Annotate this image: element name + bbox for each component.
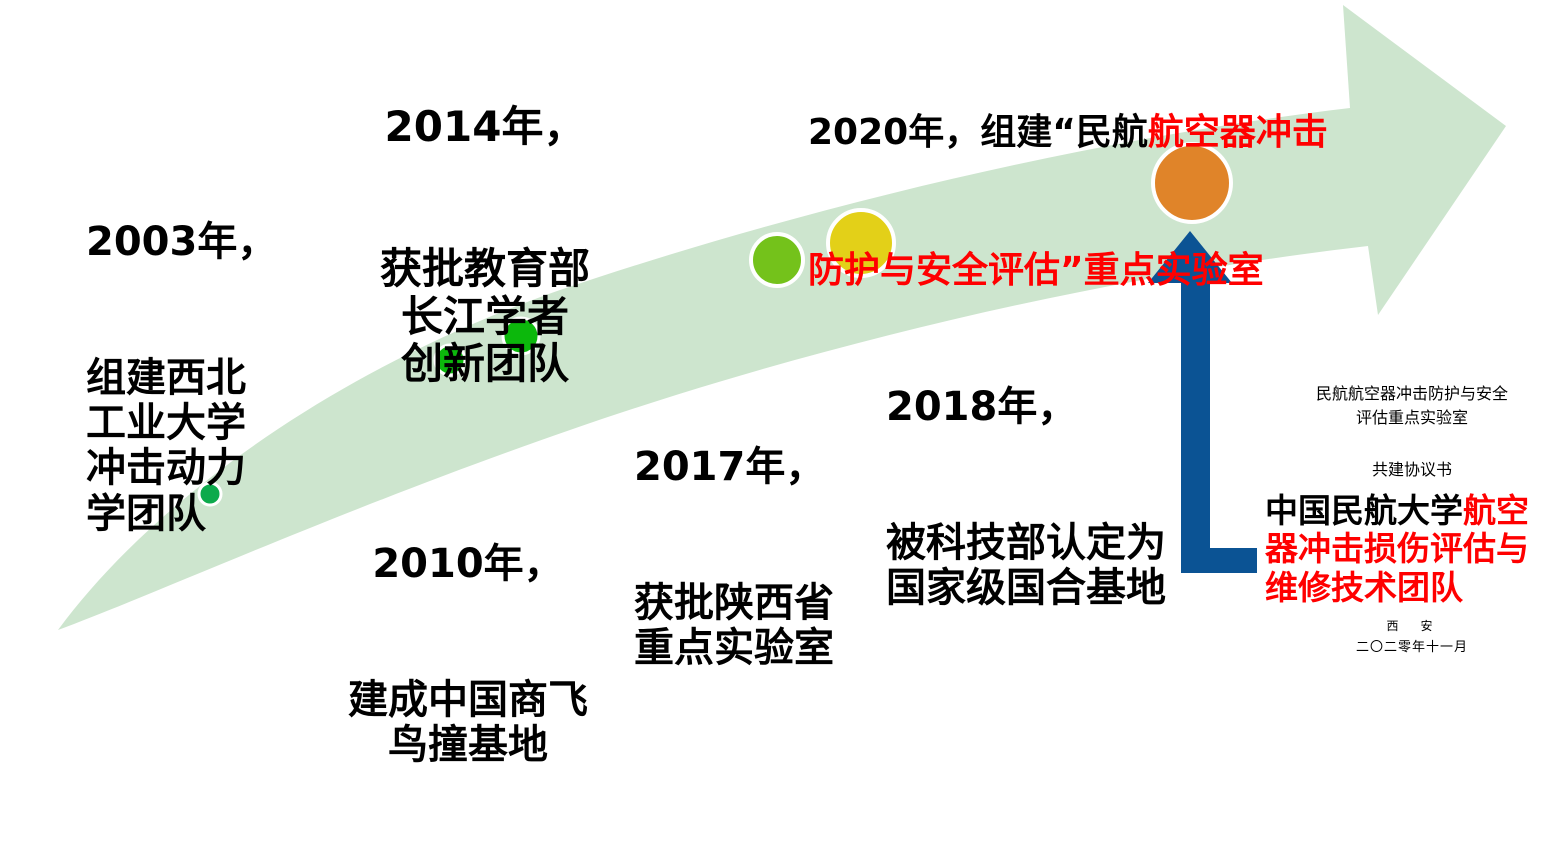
milestone-2018-year: 2018年， [886, 385, 1166, 430]
milestone-2017-year: 2017年， [634, 445, 834, 490]
milestone-2017-body: 获批陕西省 重点实验室 [634, 581, 834, 671]
milestone-2003-year: 2003年， [86, 220, 277, 265]
milestone-2020-line2: 防护与安全评估”重点实验室 [808, 248, 1328, 294]
milestone-2010: 2010年， 建成中国商飞 鸟撞基地 [348, 452, 588, 859]
milestone-2014-year: 2014年， [380, 103, 590, 150]
milestone-2014-body: 获批教育部 长江学者 创新团队 [380, 245, 590, 387]
milestone-2017: 2017年， 获批陕西省 重点实验室 [634, 355, 834, 762]
slide-canvas: 2003年， 组建西北 工业大学 冲击动力 学团队 2014年， 获批教育部 长… [0, 0, 1563, 662]
agreement-place: 西 安 [1272, 617, 1552, 634]
agreement-date: 二〇二零年十一月 [1272, 636, 1552, 655]
milestone-2010-body: 建成中国商飞 鸟撞基地 [348, 678, 588, 768]
milestone-2010-year: 2010年， [348, 542, 588, 587]
milestone-2020-line1: 2020年，组建“民航航空器冲击 [808, 110, 1328, 156]
milestone-2020-line1-red: 航空器冲击 [1148, 112, 1328, 153]
milestone-2020: 2020年，组建“民航航空器冲击 防护与安全评估”重点实验室 [808, 18, 1328, 387]
milestone-2003-body: 组建西北 工业大学 冲击动力 学团队 [86, 356, 277, 537]
milestone-2003: 2003年， 组建西北 工业大学 冲击动力 学团队 [86, 130, 277, 627]
team-label: 中国民航大学航空 器冲击损伤评估与 维修技术团队 [1265, 492, 1560, 607]
team-label-black: 中国民航大学 [1265, 491, 1463, 530]
marker-2017 [751, 234, 803, 286]
agreement-doc-title: 共建协议书 [1272, 458, 1552, 482]
agreement-block: 民航航空器冲击防护与安全 评估重点实验室 共建协议书 [1272, 358, 1552, 506]
milestone-2014: 2014年， 获批教育部 长江学者 创新团队 [380, 8, 590, 483]
milestone-2018-body: 被科技部认定为 国家级国合基地 [886, 521, 1166, 611]
agreement-lab-name: 民航航空器冲击防护与安全 评估重点实验室 [1316, 384, 1508, 427]
milestone-2020-line1-black: 2020年，组建“民航 [808, 112, 1148, 153]
